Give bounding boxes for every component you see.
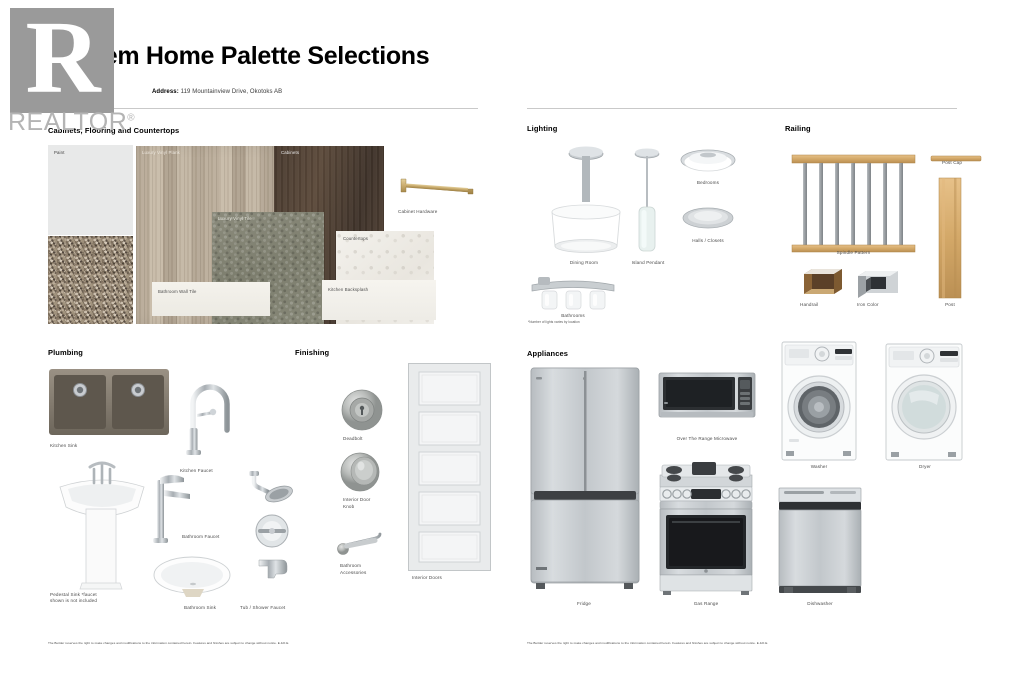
caption-dishwasher: Dishwasher (778, 601, 862, 607)
spindle-pattern-art (792, 155, 915, 255)
kitchen-sink-art (48, 368, 170, 436)
halls-closets-light-art (682, 206, 734, 230)
caption-handrail: Handrail (800, 302, 818, 308)
caption-dining-room: Dining Room (554, 260, 614, 266)
dining-room-light-art (542, 146, 630, 258)
caption-pedestal-sink: Pedestal Sink *faucet shown is not inclu… (50, 592, 106, 604)
caption-dryer: Dryer (894, 464, 956, 470)
caption-gas-range: Gas Range (662, 601, 750, 607)
bathroom-accessory-art (336, 530, 388, 558)
section-heading-plumbing: Plumbing (48, 348, 83, 357)
microwave-art (658, 372, 756, 422)
page-right: Lighting Railing Dining Room (512, 0, 1024, 682)
handrail-art (804, 265, 848, 299)
swatch-label-countertops: Countertops (343, 236, 368, 241)
caption-kitchen-sink: Kitchen Sink (50, 443, 77, 449)
washer-art (781, 341, 857, 461)
caption-tub-shower-faucet: Tub / Shower Faucet (240, 605, 285, 611)
kitchen-faucet-art (182, 366, 238, 460)
address-field: Address: 119 Mountainview Drive, Okotoks… (152, 89, 282, 95)
pedestal-sink-art (52, 455, 152, 591)
caption-iron-color: Iron Color (857, 302, 879, 308)
caption-deadbolt: Deadbolt (343, 436, 363, 442)
deadbolt-art (341, 389, 383, 431)
cabinet-pull-art (398, 175, 476, 201)
shower-head-art (248, 470, 296, 502)
door-knob-art (340, 452, 384, 492)
swatch-label-bathroom-wall-tile: Bathroom Wall Tile (158, 289, 197, 294)
footer-disclaimer-right: The Builder reserves the right to make c… (527, 641, 768, 645)
caption-pedestal-sink-label: Pedestal Sink (50, 592, 80, 597)
caption-microwave: Over The Range Microwave (646, 436, 768, 442)
island-pendant-art (627, 147, 667, 255)
bedroom-light-art (680, 148, 736, 176)
document-page: Anthem Home Palette Selections Model: La… (0, 0, 1024, 682)
fridge-art (530, 367, 640, 597)
swatch-paint (48, 145, 133, 235)
caption-bathroom-faucet: Bathroom Faucet (182, 534, 220, 540)
section-heading-finishing: Finishing (295, 348, 329, 357)
bathroom-vanity-light-art (528, 275, 618, 311)
caption-island-pendant: Island Pendant (617, 260, 679, 266)
caption-interior-door-knob: Interior Door Knob (343, 497, 377, 510)
page-title: Anthem Home Palette Selections (48, 42, 429, 71)
swatch-label-cabinets: Cabinets (281, 150, 299, 155)
caption-interior-doors: Interior Doors (412, 575, 442, 581)
swatch-label-paint: Paint (54, 150, 65, 155)
caption-washer: Washer (786, 464, 852, 470)
shower-valve-art (250, 513, 294, 549)
caption-bedrooms: Bedrooms (680, 180, 736, 186)
caption-post: Post (926, 302, 974, 308)
caption-cabinet-hardware: Cabinet Hardware (398, 209, 437, 215)
iron-color-art (858, 265, 902, 299)
dryer-art (885, 343, 963, 461)
caption-bathroom-sink: Bathroom Sink (184, 605, 216, 611)
model-field: Model: Lando 160 (48, 89, 99, 95)
tub-spout-art (256, 556, 290, 582)
gas-range-art (658, 461, 754, 596)
swatch-label-kitchen-backsplash: Kitchen Backsplash (328, 287, 368, 292)
caption-post-cap: Post Cap (942, 160, 962, 166)
section-heading-lighting: Lighting (527, 124, 557, 133)
model-label: Model: (48, 89, 68, 95)
bathroom-sink-art (152, 555, 232, 599)
caption-fridge: Fridge (552, 601, 616, 607)
footer-disclaimer-left: The Builder reserves the right to make c… (48, 641, 289, 645)
address-value: 119 Mountainview Drive, Okotoks AB (181, 89, 283, 95)
swatch-label-lvp: Luxury Vinyl Plank (142, 150, 180, 155)
swatch-label-lvt: Luxury Vinyl Tile (218, 216, 252, 221)
caption-bathrooms: Bathrooms (540, 313, 606, 319)
swatch-carpet (48, 236, 133, 324)
note-bathrooms-lighting: *Number of lights varies by location (528, 320, 580, 324)
caption-spindle-pattern: Spindle Pattern (792, 250, 915, 256)
header-divider-right (527, 108, 957, 109)
caption-bathroom-accessories: Bathroom Accessories (340, 563, 376, 576)
swatch-bathroom-wall-tile (152, 282, 270, 316)
post-art (939, 178, 961, 298)
header-divider-left (48, 108, 478, 109)
model-value: Lando 160 (70, 89, 99, 95)
caption-halls-closets: Halls / Closets (678, 238, 738, 244)
page-left: Anthem Home Palette Selections Model: La… (0, 0, 512, 682)
section-heading-cabinets: Cabinets, Flooring and Countertops (48, 126, 179, 135)
address-label: Address: (152, 89, 179, 95)
interior-door-art (408, 363, 491, 571)
section-heading-railing: Railing (785, 124, 811, 133)
section-heading-appliances: Appliances (527, 349, 568, 358)
dishwasher-art (778, 487, 862, 595)
swatch-kitchen-backsplash (322, 280, 436, 320)
